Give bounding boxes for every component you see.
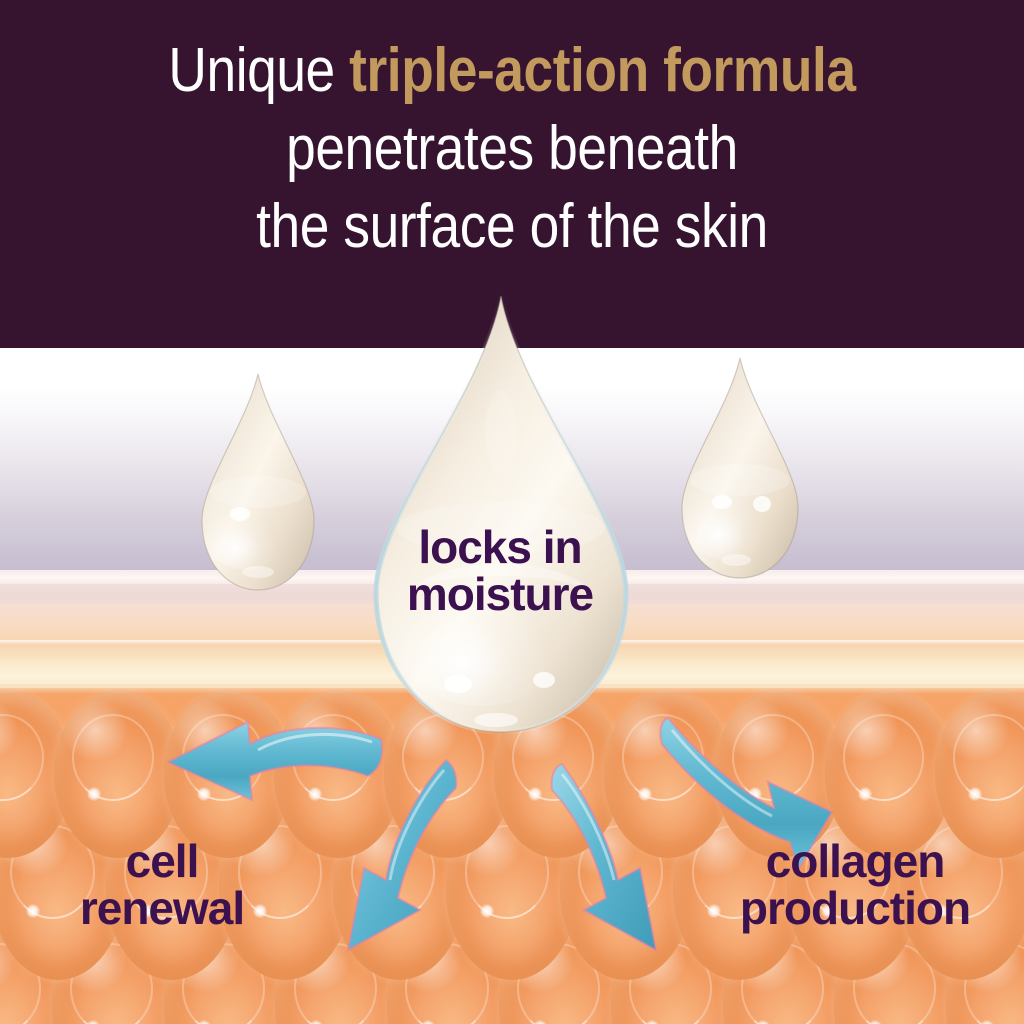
label-cell-line-1: cell: [12, 838, 312, 885]
headline-plain-text: Unique: [168, 36, 349, 105]
arrow-curved-left-icon: [168, 722, 382, 800]
label-locks-line-2: moisture: [340, 571, 660, 618]
label-collagen-line-2: production: [690, 885, 1020, 932]
label-cell-renewal: cell renewal: [12, 838, 312, 932]
page-title: Unique triple-action formula penetrates …: [72, 32, 953, 266]
droplet-icon-main: [370, 292, 632, 740]
headline-gold-text: triple-action formula: [349, 36, 855, 105]
arrow-curved-down-right-icon: [552, 764, 656, 950]
label-cell-line-2: renewal: [12, 885, 312, 932]
headline-line-2: penetrates beneath: [72, 110, 953, 188]
headline-line-1: Unique triple-action formula: [72, 32, 953, 110]
arrow-curved-down-left-icon: [348, 760, 456, 950]
headline-line-3: the surface of the skin: [72, 188, 953, 266]
label-locks-in-moisture: locks in moisture: [340, 524, 660, 618]
label-collagen-production: collagen production: [690, 838, 1020, 932]
label-collagen-line-1: collagen: [690, 838, 1020, 885]
infographic-canvas: Unique triple-action formula penetrates …: [0, 0, 1024, 1024]
label-locks-line-1: locks in: [340, 524, 660, 571]
